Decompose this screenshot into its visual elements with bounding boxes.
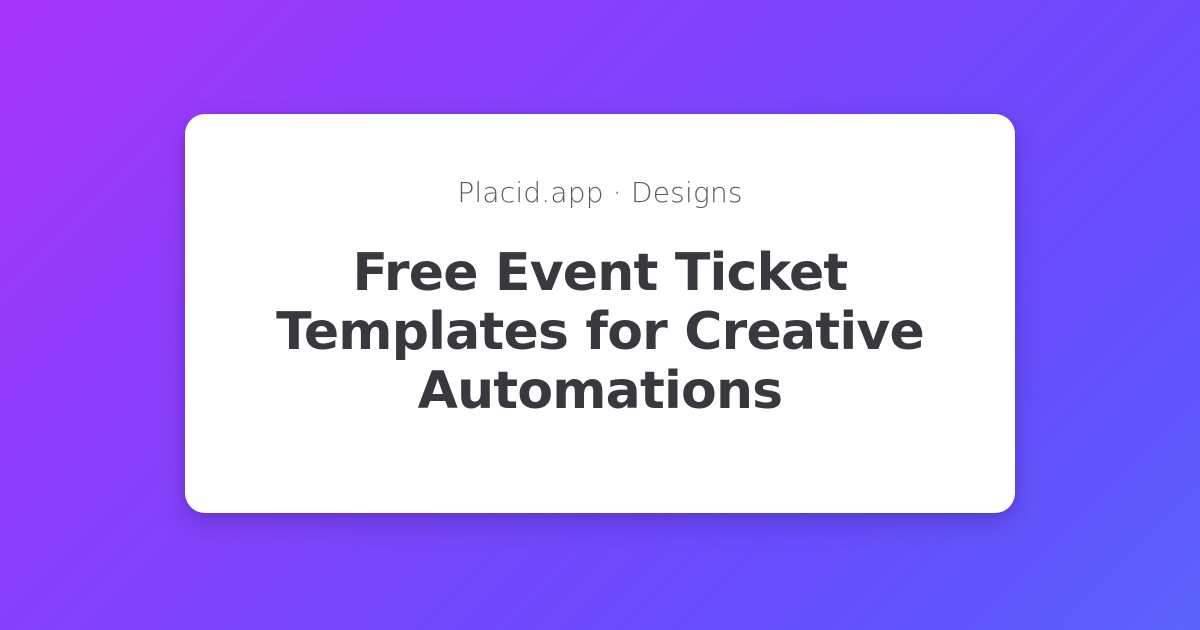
content-card: Placid.app · Designs Free Event Ticket T…	[185, 114, 1015, 513]
page-title: Free Event Ticket Templates for Creative…	[270, 244, 930, 422]
og-image-canvas: Placid.app · Designs Free Event Ticket T…	[0, 0, 1200, 630]
eyebrow-breadcrumb: Placid.app · Designs	[457, 176, 742, 210]
